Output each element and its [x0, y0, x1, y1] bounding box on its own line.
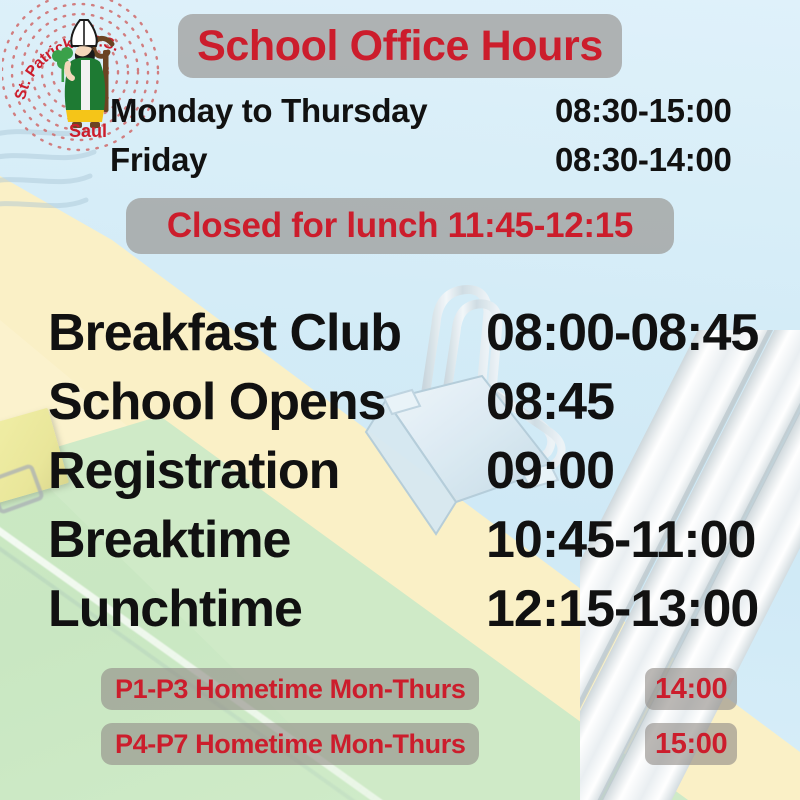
hometime-time-badge: 14:00 [645, 668, 737, 710]
hometime-label: P1-P3 Hometime Mon-Thurs [115, 674, 465, 705]
saint-patrick-figure [52, 20, 112, 128]
schedule-row: School Opens 08:45 [48, 375, 788, 444]
hometime-row: P1-P3 Hometime Mon-Thurs 14:00 [101, 668, 781, 723]
office-hours-label: Friday [110, 141, 207, 179]
crest-sub-text: Saul [69, 121, 107, 141]
schedule-label: Breaktime [48, 513, 290, 568]
schedule-label: Lunchtime [48, 582, 302, 637]
hometime-time: 15:00 [655, 728, 727, 761]
hometime-row: P4-P7 Hometime Mon-Thurs 15:00 [101, 723, 781, 778]
lunch-closure-banner: Closed for lunch 11:45-12:15 [126, 198, 674, 254]
hometime-label-badge: P4-P7 Hometime Mon-Thurs [101, 723, 479, 765]
schedule-row: Lunchtime 12:15-13:00 [48, 582, 788, 651]
office-hours-time: 08:30-14:00 [555, 141, 732, 179]
office-hours-label: Monday to Thursday [110, 92, 427, 130]
office-hours-row: Friday 08:30-14:00 [110, 141, 790, 190]
schedule-label: Breakfast Club [48, 306, 401, 361]
hometime-time-badge: 15:00 [645, 723, 737, 765]
schedule-row: Registration 09:00 [48, 444, 788, 513]
schedule-time: 09:00 [486, 444, 614, 499]
schedule-time: 08:45 [486, 375, 614, 430]
schedule-time: 08:00-08:45 [486, 306, 758, 361]
hometime-label: P4-P7 Hometime Mon-Thurs [115, 729, 465, 760]
school-hours-poster: St. Patrick's P.S. [0, 0, 800, 800]
page-title: School Office Hours [197, 25, 603, 68]
hometime-label-badge: P1-P3 Hometime Mon-Thurs [101, 668, 479, 710]
schedule-time: 12:15-13:00 [486, 582, 758, 637]
schedule-time: 10:45-11:00 [486, 513, 755, 568]
hometime-time: 14:00 [655, 673, 727, 706]
office-hours-time: 08:30-15:00 [555, 92, 732, 130]
schedule-row: Breaktime 10:45-11:00 [48, 513, 788, 582]
schedule-row: Breakfast Club 08:00-08:45 [48, 306, 788, 375]
daily-schedule-list: Breakfast Club 08:00-08:45 School Opens … [48, 306, 788, 651]
schedule-label: Registration [48, 444, 339, 499]
poster-title-banner: School Office Hours [178, 14, 622, 78]
office-hours-list: Monday to Thursday 08:30-15:00 Friday 08… [110, 92, 790, 190]
schedule-label: School Opens [48, 375, 386, 430]
hometime-list: P1-P3 Hometime Mon-Thurs 14:00 P4-P7 Hom… [101, 668, 781, 778]
lunch-closure-text: Closed for lunch 11:45-12:15 [167, 206, 633, 246]
office-hours-row: Monday to Thursday 08:30-15:00 [110, 92, 790, 141]
